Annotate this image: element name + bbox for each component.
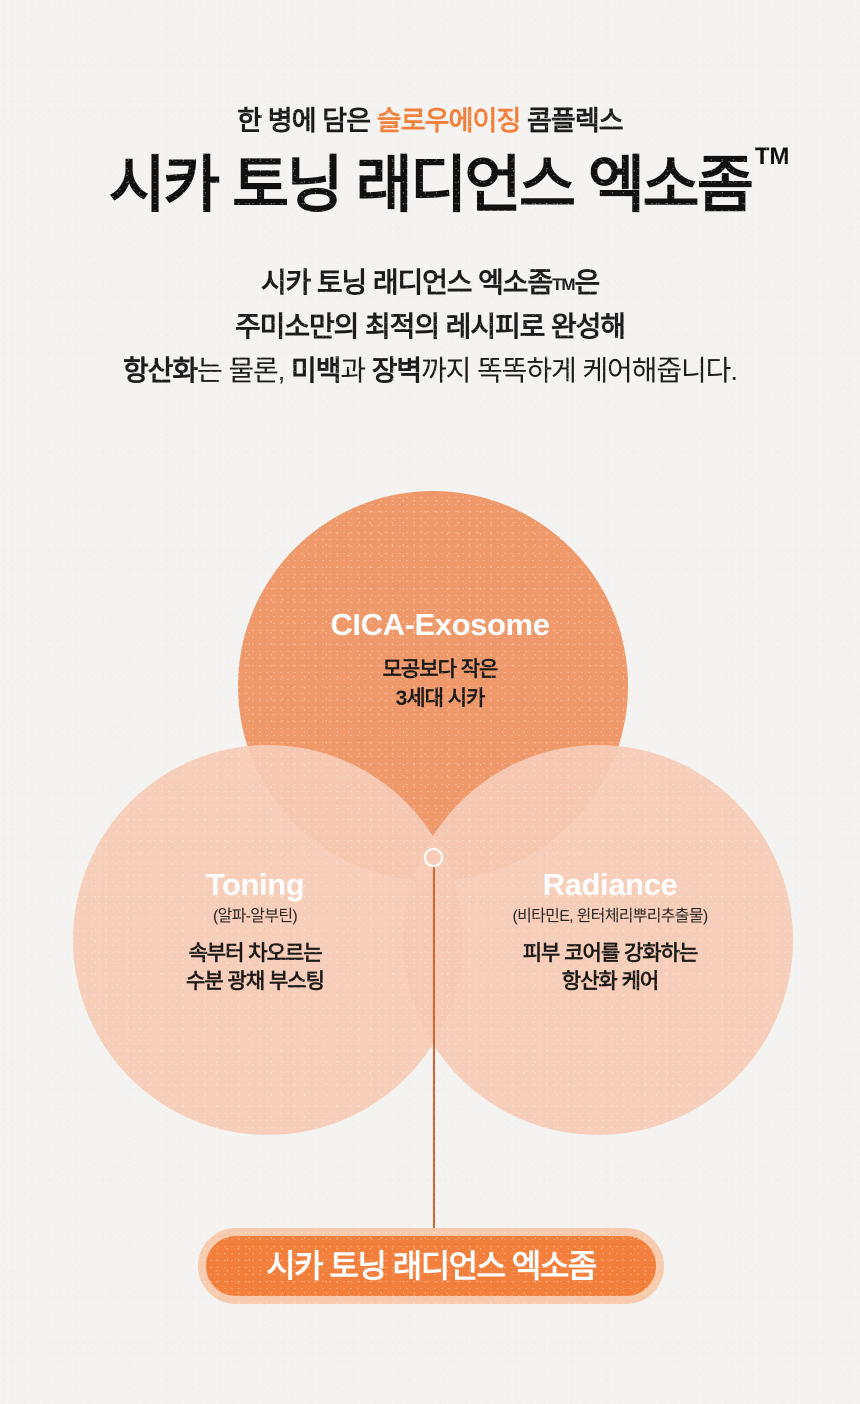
- venn-center-node: [424, 848, 443, 867]
- connector-line: [433, 866, 435, 1232]
- venn-label-toning-desc-line1: 속부터 차오르는: [188, 942, 321, 965]
- venn-label-cica: CICA-Exosome 모공보다 작은 3세대 시카: [245, 608, 635, 713]
- product-name-pill: 시카 토닝 래디언스 엑소좀: [198, 1228, 664, 1304]
- venn-label-toning-ingredient: (알파-알부틴): [105, 907, 405, 927]
- venn-label-radiance-title: Radiance: [460, 868, 760, 902]
- venn-label-radiance-desc: 피부 코어를 강화하는 항산화 케어: [460, 940, 760, 997]
- venn-label-toning-desc: 속부터 차오르는 수분 광채 부스팅: [105, 940, 405, 997]
- venn-label-cica-desc-line1: 모공보다 작은: [383, 658, 498, 681]
- venn-label-cica-desc-line2: 3세대 시카: [396, 687, 485, 710]
- venn-label-cica-title: CICA-Exosome: [245, 608, 635, 642]
- product-name-pill-label: 시카 토닝 래디언스 엑소좀: [266, 1250, 596, 1282]
- venn-label-radiance-ingredient: (비타민E, 윈터체리뿌리추출물): [460, 907, 760, 927]
- venn-label-radiance: Radiance (비타민E, 윈터체리뿌리추출물) 피부 코어를 강화하는 항…: [460, 868, 760, 997]
- venn-label-radiance-desc-line2: 항산화 케어: [562, 970, 658, 993]
- venn-label-toning: Toning (알파-알부틴) 속부터 차오르는 수분 광채 부스팅: [105, 868, 405, 997]
- venn-label-cica-desc: 모공보다 작은 3세대 시카: [245, 656, 635, 713]
- venn-label-toning-desc-line2: 수분 광채 부스팅: [186, 970, 324, 993]
- venn-label-radiance-desc-line1: 피부 코어를 강화하는: [523, 942, 698, 965]
- venn-label-toning-title: Toning: [105, 868, 405, 902]
